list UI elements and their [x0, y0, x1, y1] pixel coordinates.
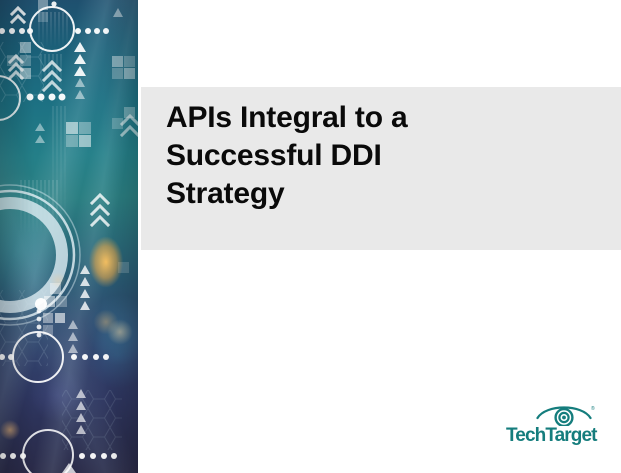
trademark-symbol: ® [591, 405, 595, 412]
decorative-art-panel [0, 0, 138, 473]
techtarget-logo: ® TechTarget [506, 400, 598, 448]
art-vignette [0, 0, 138, 473]
eye-target-icon: ® [536, 400, 596, 426]
page-title: APIs Integral to a Successful DDI Strate… [166, 99, 506, 213]
logo-wordmark: TechTarget [506, 425, 598, 447]
presentation-slide: APIs Integral to a Successful DDI Strate… [0, 0, 621, 473]
